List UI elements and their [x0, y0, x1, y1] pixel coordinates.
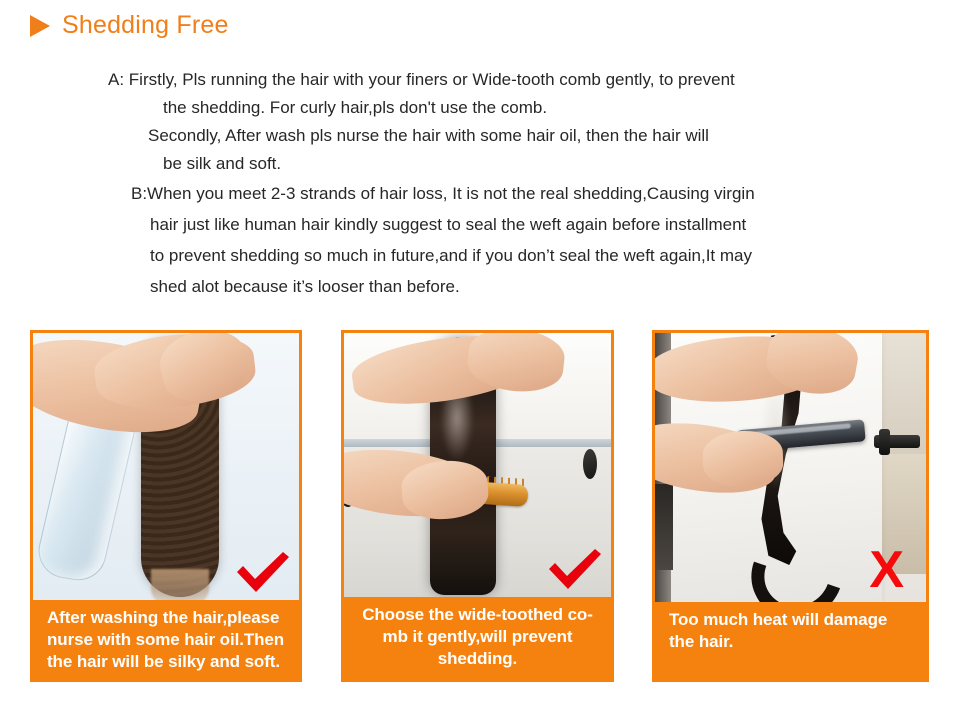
- panel-wash: After washing the hair,please nurse with…: [30, 330, 302, 682]
- caption-line: the hair will be silky and soft.: [47, 651, 289, 673]
- caption-line: nurse with some hair oil.Then: [47, 629, 289, 651]
- check-mark-icon: [233, 550, 291, 594]
- paragraph-b-line: shed alot because it’s looser than befor…: [0, 271, 960, 302]
- care-steps-gallery: After washing the hair,please nurse with…: [0, 330, 960, 684]
- paragraph-a: A: Firstly, Pls running the hair with yo…: [0, 66, 960, 178]
- page-title: Shedding Free: [62, 10, 229, 40]
- caption-line: mb it gently,will prevent: [352, 626, 603, 648]
- paragraph-b-line: to prevent shedding so much in future,an…: [0, 240, 960, 271]
- paragraph-a-line: be silk and soft.: [0, 150, 960, 178]
- panel-comb-caption: Choose the wide-toothed co- mb it gently…: [344, 597, 611, 679]
- panel-heat-photo: X: [655, 333, 926, 602]
- caption-line: After washing the hair,please: [47, 607, 289, 629]
- caption-line: Choose the wide-toothed co-: [352, 604, 603, 626]
- check-mark-icon: [545, 547, 603, 591]
- caption-line: the hair.: [669, 631, 916, 653]
- caption-line: shedding.: [352, 648, 603, 670]
- paragraph-b-line: B:When you meet 2-3 strands of hair loss…: [0, 178, 960, 209]
- panel-wash-photo: [33, 333, 299, 600]
- caption-line: Too much heat will damage: [669, 609, 916, 631]
- paragraph-b: B:When you meet 2-3 strands of hair loss…: [0, 178, 960, 302]
- hand: [702, 430, 784, 489]
- paragraph-a-line: the shedding. For curly hair,pls don't u…: [0, 94, 960, 122]
- panel-wash-caption: After washing the hair,please nurse with…: [33, 600, 299, 679]
- panel-heat-caption: Too much heat will damage the hair.: [655, 602, 926, 679]
- paragraph-a-line: A: Firstly, Pls running the hair with yo…: [0, 66, 960, 94]
- panel-comb-photo: [344, 333, 611, 597]
- panel-comb: Choose the wide-toothed co- mb it gently…: [341, 330, 614, 682]
- section-header: Shedding Free: [30, 10, 229, 40]
- triangle-right-icon: [30, 15, 50, 37]
- paragraph-b-line: hair just like human hair kindly suggest…: [0, 209, 960, 240]
- instructions-copy: A: Firstly, Pls running the hair with yo…: [0, 66, 960, 302]
- panel-heat: X Too much heat will damage the hair.: [652, 330, 929, 682]
- cross-mark-icon: X: [869, 544, 904, 596]
- paragraph-a-line: Secondly, After wash pls nurse the hair …: [0, 122, 960, 150]
